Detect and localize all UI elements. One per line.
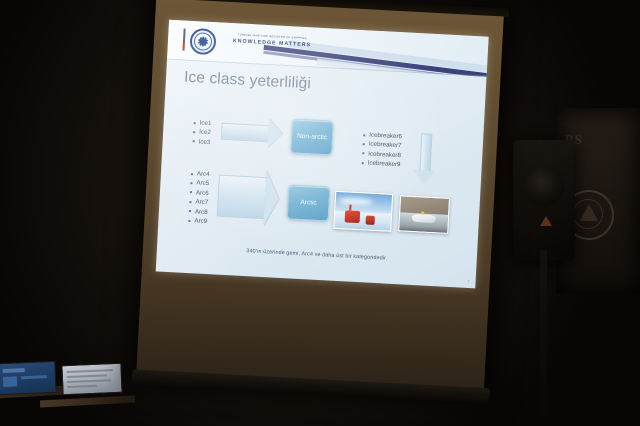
doc-line [67, 385, 97, 388]
arrow-shaft [221, 123, 270, 143]
laptop-content-block [3, 376, 17, 387]
arrow-shaft [419, 133, 432, 172]
projection-screen: TURKISH MARITIME REGISTER OF SHIPPING KN… [136, 0, 504, 393]
slide-number: 7 [467, 279, 469, 284]
doc-line [67, 374, 107, 378]
slide-title: Ice class yeterliliği [184, 69, 312, 94]
loudspeaker [513, 140, 575, 260]
arctic-box: Arctic [287, 184, 331, 221]
laptop-screen-right[interactable] [61, 363, 122, 395]
arrow-right-icon [217, 175, 281, 220]
arrow-head [267, 118, 283, 149]
non-arctic-box: Non-arctic [290, 118, 334, 155]
room-scene: RS [0, 0, 640, 426]
slide-caption: 340'ın üzerinde gemi, Arc4 ve daha üst b… [157, 243, 477, 266]
list-item: Icebreaker9 [362, 158, 401, 169]
laptop-screen-left[interactable] [0, 361, 57, 395]
speaker-stand [540, 250, 547, 426]
list-item: Ice3 [192, 137, 210, 147]
photo-white-vessel [398, 195, 450, 234]
arrow-shaft [217, 175, 267, 219]
arc-class-list: Arc4 Arc5 Arc6 Arc7 Arc8 Arc9 [188, 169, 210, 226]
speaker-led-icon [540, 216, 552, 226]
logo-star [198, 36, 209, 47]
speaker-cone-icon [524, 166, 564, 206]
photo-vessel-secondary [366, 216, 375, 225]
doc-line [67, 369, 113, 373]
presentation-slide: TURKISH MARITIME REGISTER OF SHIPPING KN… [156, 20, 489, 289]
laptop-content-bar [3, 368, 25, 373]
arrow-head [413, 170, 436, 185]
icebreaker-class-list: Icebreaker6 Icebreaker7 Icebreaker8 Iceb… [362, 130, 403, 170]
compass-star-seal-icon [189, 28, 216, 55]
list-item: Arc9 [188, 216, 207, 226]
photo-ice [334, 211, 391, 231]
ice-class-list: Ice1 Ice2 Ice3 [192, 118, 211, 147]
photo-vessel [345, 210, 360, 223]
doc-line [67, 379, 111, 383]
arrow-right-icon [221, 123, 284, 143]
photo-red-icebreaker [333, 191, 393, 232]
table-edge [40, 396, 135, 408]
arrow-head [263, 170, 280, 227]
photo-vessel [411, 214, 436, 223]
arrow-down-icon [413, 133, 438, 188]
laptop-content-line [21, 375, 47, 379]
